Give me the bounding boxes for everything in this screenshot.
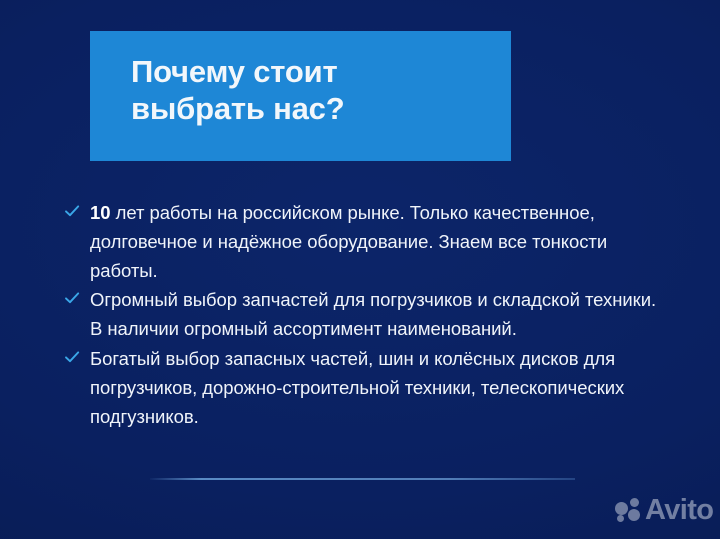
page-title: Почему стоит выбрать нас? <box>131 53 511 127</box>
check-icon <box>64 290 80 306</box>
list-item-body: Богатый выбор запасных частей, шин и кол… <box>90 348 624 427</box>
check-icon <box>64 349 80 365</box>
list-item-text: 10 лет работы на российском рынке. Тольк… <box>90 199 672 285</box>
heading-banner: Почему стоит выбрать нас? <box>90 31 511 161</box>
list-item: Богатый выбор запасных частей, шин и кол… <box>62 345 672 431</box>
list-item-body: лет работы на российском рынке. Только к… <box>90 202 607 281</box>
avito-watermark: Avito <box>614 497 713 523</box>
avito-wordmark: Avito <box>645 497 713 523</box>
slide-canvas: Почему стоит выбрать нас? 10 лет работы … <box>0 0 720 539</box>
list-item: 10 лет работы на российском рынке. Тольк… <box>62 199 672 285</box>
check-icon <box>64 203 80 219</box>
benefits-list: 10 лет работы на российском рынке. Тольк… <box>62 199 672 432</box>
list-item-lead: 10 <box>90 202 110 223</box>
list-item-text: Богатый выбор запасных частей, шин и кол… <box>90 345 672 431</box>
avito-dots-icon <box>614 497 644 523</box>
list-item-text: Огромный выбор запчастей для погрузчиков… <box>90 286 672 344</box>
list-item-body: Огромный выбор запчастей для погрузчиков… <box>90 289 656 339</box>
divider <box>150 478 575 480</box>
list-item: Огромный выбор запчастей для погрузчиков… <box>62 286 672 344</box>
